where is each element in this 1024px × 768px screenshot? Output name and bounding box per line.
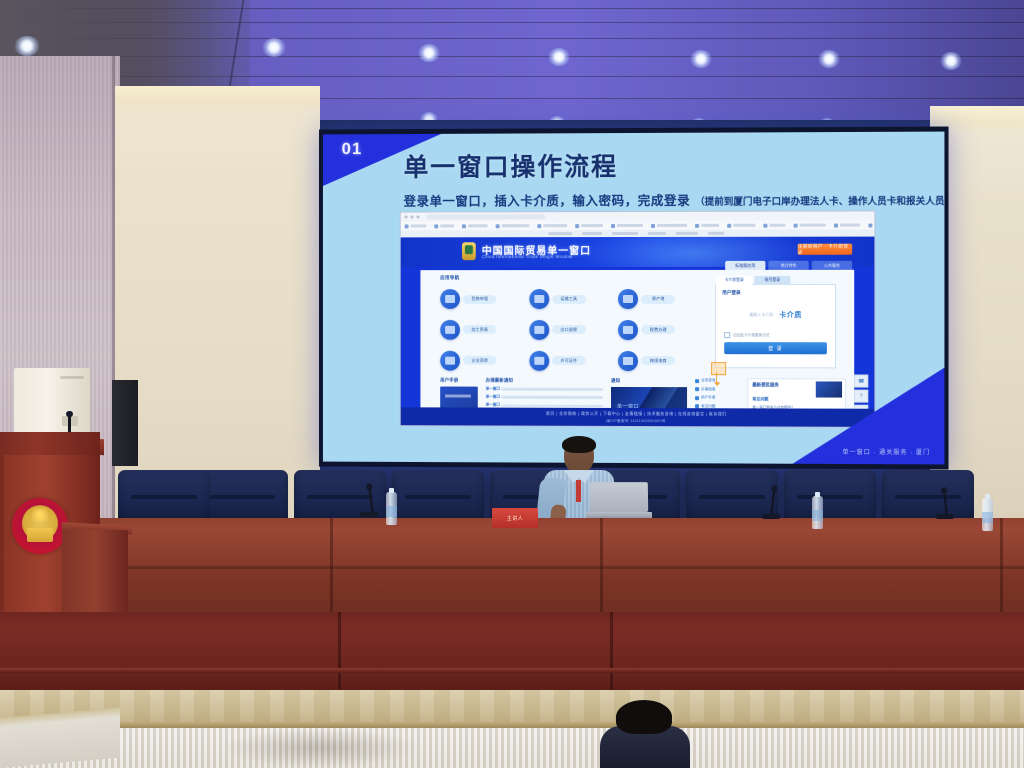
news-tag: 单一窗口 bbox=[486, 387, 500, 392]
bookmark-item[interactable] bbox=[575, 224, 603, 228]
list-item[interactable]: 单一窗口 bbox=[486, 395, 603, 400]
microphone-base bbox=[360, 512, 378, 517]
slide-subtitle: 登录单一窗口，插入卡介质，输入密码，完成登录 （提前到厦门电子口岸办理法人卡、操… bbox=[404, 189, 924, 209]
app-tile[interactable]: 运输工具 bbox=[529, 286, 614, 313]
favicon-icon bbox=[727, 223, 731, 227]
quick-link-label: 办事指南 bbox=[701, 387, 715, 392]
service-card-subtitle: 常见问题 bbox=[752, 396, 768, 402]
login-tab-card[interactable]: 卡介质登录 bbox=[716, 276, 752, 285]
portal-nav-tabs[interactable]: 标准版应用 地方特色 公共服务 bbox=[725, 261, 852, 270]
presenter-hair bbox=[562, 436, 596, 453]
presentation-slide: 01 单一窗口操作流程 登录单一窗口，插入卡介质，输入密码，完成登录 （提前到厦… bbox=[323, 132, 945, 465]
bookmark-item[interactable] bbox=[834, 223, 860, 227]
stage-floor-edge bbox=[0, 690, 1024, 726]
audience-hair bbox=[616, 700, 672, 734]
microphone-base bbox=[936, 514, 954, 519]
address-input[interactable] bbox=[426, 214, 545, 219]
app-label: 许可证件 bbox=[552, 356, 586, 365]
box-icon bbox=[618, 320, 638, 340]
screen-display-area: 01 单一窗口操作流程 登录单一窗口，插入卡介质，输入密码，完成登录 （提前到厦… bbox=[323, 132, 945, 465]
app-tile[interactable]: 税费办理 bbox=[618, 317, 704, 344]
national-emblem-logo-icon bbox=[462, 242, 476, 260]
news-text-bar bbox=[502, 396, 603, 399]
quick-link[interactable]: 办事指南 bbox=[695, 387, 739, 392]
portal-site-name-en: China International Trade Single Window bbox=[482, 254, 573, 259]
login-tab-account[interactable]: 账号登录 bbox=[754, 276, 790, 285]
portal-cta-button[interactable]: 注册新用户 · 卡介质登录 bbox=[798, 244, 853, 255]
stage-step bbox=[0, 708, 120, 768]
bookmark-item[interactable] bbox=[794, 223, 826, 227]
favicon-icon bbox=[611, 224, 615, 228]
list-item[interactable]: 单一窗口 bbox=[486, 387, 603, 392]
laptop-screen bbox=[590, 482, 648, 512]
link-bullet-icon bbox=[695, 379, 699, 383]
favicon-icon bbox=[695, 223, 699, 227]
section-title: 办理最新通知 bbox=[486, 378, 603, 384]
portal-nav-tab-public[interactable]: 公共服务 bbox=[812, 261, 852, 270]
reload-icon[interactable] bbox=[416, 215, 419, 218]
bookmark-item[interactable] bbox=[537, 224, 567, 228]
footer-icp-number: 闽ICP备案号 11011300000000号 bbox=[606, 418, 665, 423]
stage-panel-seam bbox=[338, 612, 341, 690]
bookmark-item[interactable] bbox=[763, 223, 785, 227]
favicon-icon bbox=[575, 224, 579, 228]
microphone-base bbox=[762, 514, 780, 519]
app-tile[interactable]: 跨境电商 bbox=[618, 347, 704, 374]
chair bbox=[392, 470, 484, 524]
podium-equipment bbox=[14, 368, 90, 438]
news-text-bar bbox=[502, 388, 603, 391]
table-groove bbox=[0, 566, 1024, 569]
checkbox-icon bbox=[724, 332, 730, 338]
quick-link[interactable]: 用户手册 bbox=[695, 395, 739, 400]
apps-panel-title: 应用导航 bbox=[440, 275, 459, 281]
news-text-bar bbox=[502, 404, 603, 407]
login-panel-title: 用户登录 bbox=[722, 290, 740, 296]
section-title: 通知 bbox=[611, 378, 687, 384]
folder-icon bbox=[440, 350, 460, 370]
bookmark-item[interactable] bbox=[868, 223, 875, 227]
login-hint-ghost: 请插入卡介质 bbox=[749, 312, 773, 318]
app-label: 出口退税 bbox=[552, 325, 586, 334]
name-placard-text: 主讲人 bbox=[507, 515, 524, 522]
app-label: 税费办理 bbox=[641, 325, 675, 334]
presenter-lanyard bbox=[576, 480, 581, 502]
audience-member-foreground bbox=[600, 700, 690, 768]
bottle-label bbox=[812, 510, 823, 521]
login-panel[interactable]: 卡介质登录 账号登录 用户登录 请插入卡介质 卡介质 bbox=[715, 284, 836, 368]
water-bottle bbox=[386, 492, 397, 525]
portal-nav-tab-standard[interactable]: 标准版应用 bbox=[725, 261, 765, 270]
favicon-icon bbox=[651, 223, 655, 227]
national-emblem-icon bbox=[12, 498, 68, 554]
app-label: 加工贸易 bbox=[463, 325, 497, 334]
favicon-icon bbox=[405, 224, 409, 228]
back-icon[interactable] bbox=[405, 216, 408, 219]
led-screen[interactable]: 01 单一窗口操作流程 登录单一窗口，插入卡介质，输入密码，完成登录 （提前到厦… bbox=[319, 126, 948, 469]
annotation-highlight-box bbox=[711, 362, 726, 375]
favicon-icon bbox=[434, 224, 438, 228]
favicon-icon bbox=[868, 223, 872, 227]
bookmark-item[interactable] bbox=[434, 224, 454, 228]
favicon-icon bbox=[462, 224, 466, 228]
forward-icon[interactable] bbox=[411, 216, 414, 219]
app-tile[interactable]: 企业资质 bbox=[440, 347, 525, 374]
remember-card-checkbox[interactable]: 记住此卡介质登录方式 bbox=[724, 332, 769, 338]
slide-title: 单一窗口操作流程 bbox=[404, 147, 618, 184]
downlight-icon bbox=[418, 44, 440, 62]
news-tag: 单一窗口 bbox=[486, 395, 500, 400]
bottle-label bbox=[982, 512, 993, 523]
plane-icon bbox=[618, 351, 638, 371]
slide-section-number: 01 bbox=[342, 139, 363, 159]
bookmark-item[interactable] bbox=[695, 223, 719, 227]
app-label: 跨境电商 bbox=[641, 356, 675, 365]
stage-riser-panel bbox=[0, 728, 1024, 768]
slide-subtitle-main: 登录单一窗口，插入卡介质，输入密码，完成登录 bbox=[404, 193, 691, 209]
monitor-icon bbox=[529, 320, 549, 340]
truck-icon bbox=[440, 320, 460, 340]
portal-content-area: 应用导航 货物申报 运输工具 bbox=[420, 270, 854, 419]
app-tile[interactable]: 出口退税 bbox=[529, 317, 614, 344]
favicon-icon bbox=[537, 224, 541, 228]
login-hint-emphasis: 卡介质 bbox=[779, 310, 802, 320]
app-icon-grid[interactable]: 货物申报 运输工具 原产地 bbox=[440, 286, 704, 374]
slide-subtitle-note: （提前到厦门电子口岸办理法人卡、操作人员卡和报关人员卡） bbox=[695, 196, 944, 208]
portal-nav-tab-local[interactable]: 地方特色 bbox=[768, 261, 808, 270]
equipment-vent bbox=[60, 376, 84, 379]
bookmark-item[interactable] bbox=[651, 223, 687, 227]
app-tile[interactable]: 货物申报 bbox=[440, 286, 525, 313]
link-bullet-icon bbox=[695, 396, 699, 400]
app-tile[interactable]: 原产地 bbox=[618, 286, 704, 313]
remember-card-label: 记住此卡介质登录方式 bbox=[733, 333, 769, 338]
bookmark-item[interactable] bbox=[496, 224, 530, 228]
bookmark-item[interactable] bbox=[611, 223, 643, 227]
bottle-label bbox=[386, 506, 397, 517]
presenter-laptop bbox=[586, 482, 652, 520]
ship-icon bbox=[440, 289, 460, 309]
name-placard: 主讲人 bbox=[492, 508, 538, 528]
downlight-icon bbox=[262, 38, 286, 57]
water-bottle bbox=[812, 496, 823, 529]
slide-corner-badge: 单一窗口 · 通关服务 · 厦门 bbox=[842, 447, 930, 456]
stage-facade bbox=[0, 612, 1024, 690]
app-label: 货物申报 bbox=[463, 295, 497, 304]
water-bottle bbox=[982, 498, 993, 531]
cloud-icon bbox=[618, 289, 638, 309]
link-bullet-icon bbox=[695, 387, 699, 391]
chart-icon bbox=[529, 351, 549, 371]
app-label: 运输工具 bbox=[552, 295, 586, 304]
stage-shadow bbox=[220, 728, 420, 768]
quick-link-label: 用户手册 bbox=[701, 395, 715, 400]
favicon-icon bbox=[763, 223, 767, 227]
app-tile[interactable]: 加工贸易 bbox=[440, 317, 525, 344]
quick-link[interactable]: 业务咨询 bbox=[695, 378, 739, 383]
chair bbox=[784, 470, 876, 524]
chair bbox=[882, 470, 974, 524]
login-submit-button[interactable]: 登 录 bbox=[724, 342, 827, 354]
app-label: 企业资质 bbox=[463, 356, 497, 365]
bookmark-item[interactable] bbox=[727, 223, 755, 227]
login-card-prompt: 请插入卡介质 卡介质 bbox=[722, 305, 829, 325]
quick-link-label: 业务咨询 bbox=[701, 378, 715, 383]
document-icon bbox=[529, 289, 549, 309]
favicon-icon bbox=[794, 223, 798, 227]
favicon-icon bbox=[496, 224, 500, 228]
conference-room-scene: 01 单一窗口操作流程 登录单一窗口，插入卡介质，输入密码，完成登录 （提前到厦… bbox=[0, 0, 1024, 768]
downlight-icon bbox=[940, 52, 962, 70]
section-title: 用户手册 bbox=[440, 378, 478, 384]
app-tile[interactable]: 许可证件 bbox=[529, 347, 614, 374]
downlight-icon bbox=[818, 50, 840, 68]
bookmark-item[interactable] bbox=[405, 224, 427, 228]
favicon-icon bbox=[834, 223, 838, 227]
wall-speaker bbox=[112, 380, 138, 466]
cove-light-left bbox=[115, 86, 320, 112]
footer-links[interactable]: 首页 | 业务指南 | 政务公开 | 下载中心 | 友情链接 | 技术服务咨询 … bbox=[546, 410, 727, 417]
stage-base-rail bbox=[0, 668, 1024, 673]
service-card-title: 最新便民服务 bbox=[752, 382, 779, 388]
downlight-icon bbox=[14, 36, 40, 56]
chair bbox=[118, 470, 210, 524]
downlight-icon bbox=[690, 50, 712, 68]
downlight-icon bbox=[548, 48, 570, 66]
bookmark-item[interactable] bbox=[462, 224, 488, 228]
stage-panel-seam bbox=[610, 612, 613, 690]
app-label: 原产地 bbox=[641, 295, 675, 304]
login-tab-group[interactable]: 卡介质登录 账号登录 bbox=[716, 276, 790, 285]
